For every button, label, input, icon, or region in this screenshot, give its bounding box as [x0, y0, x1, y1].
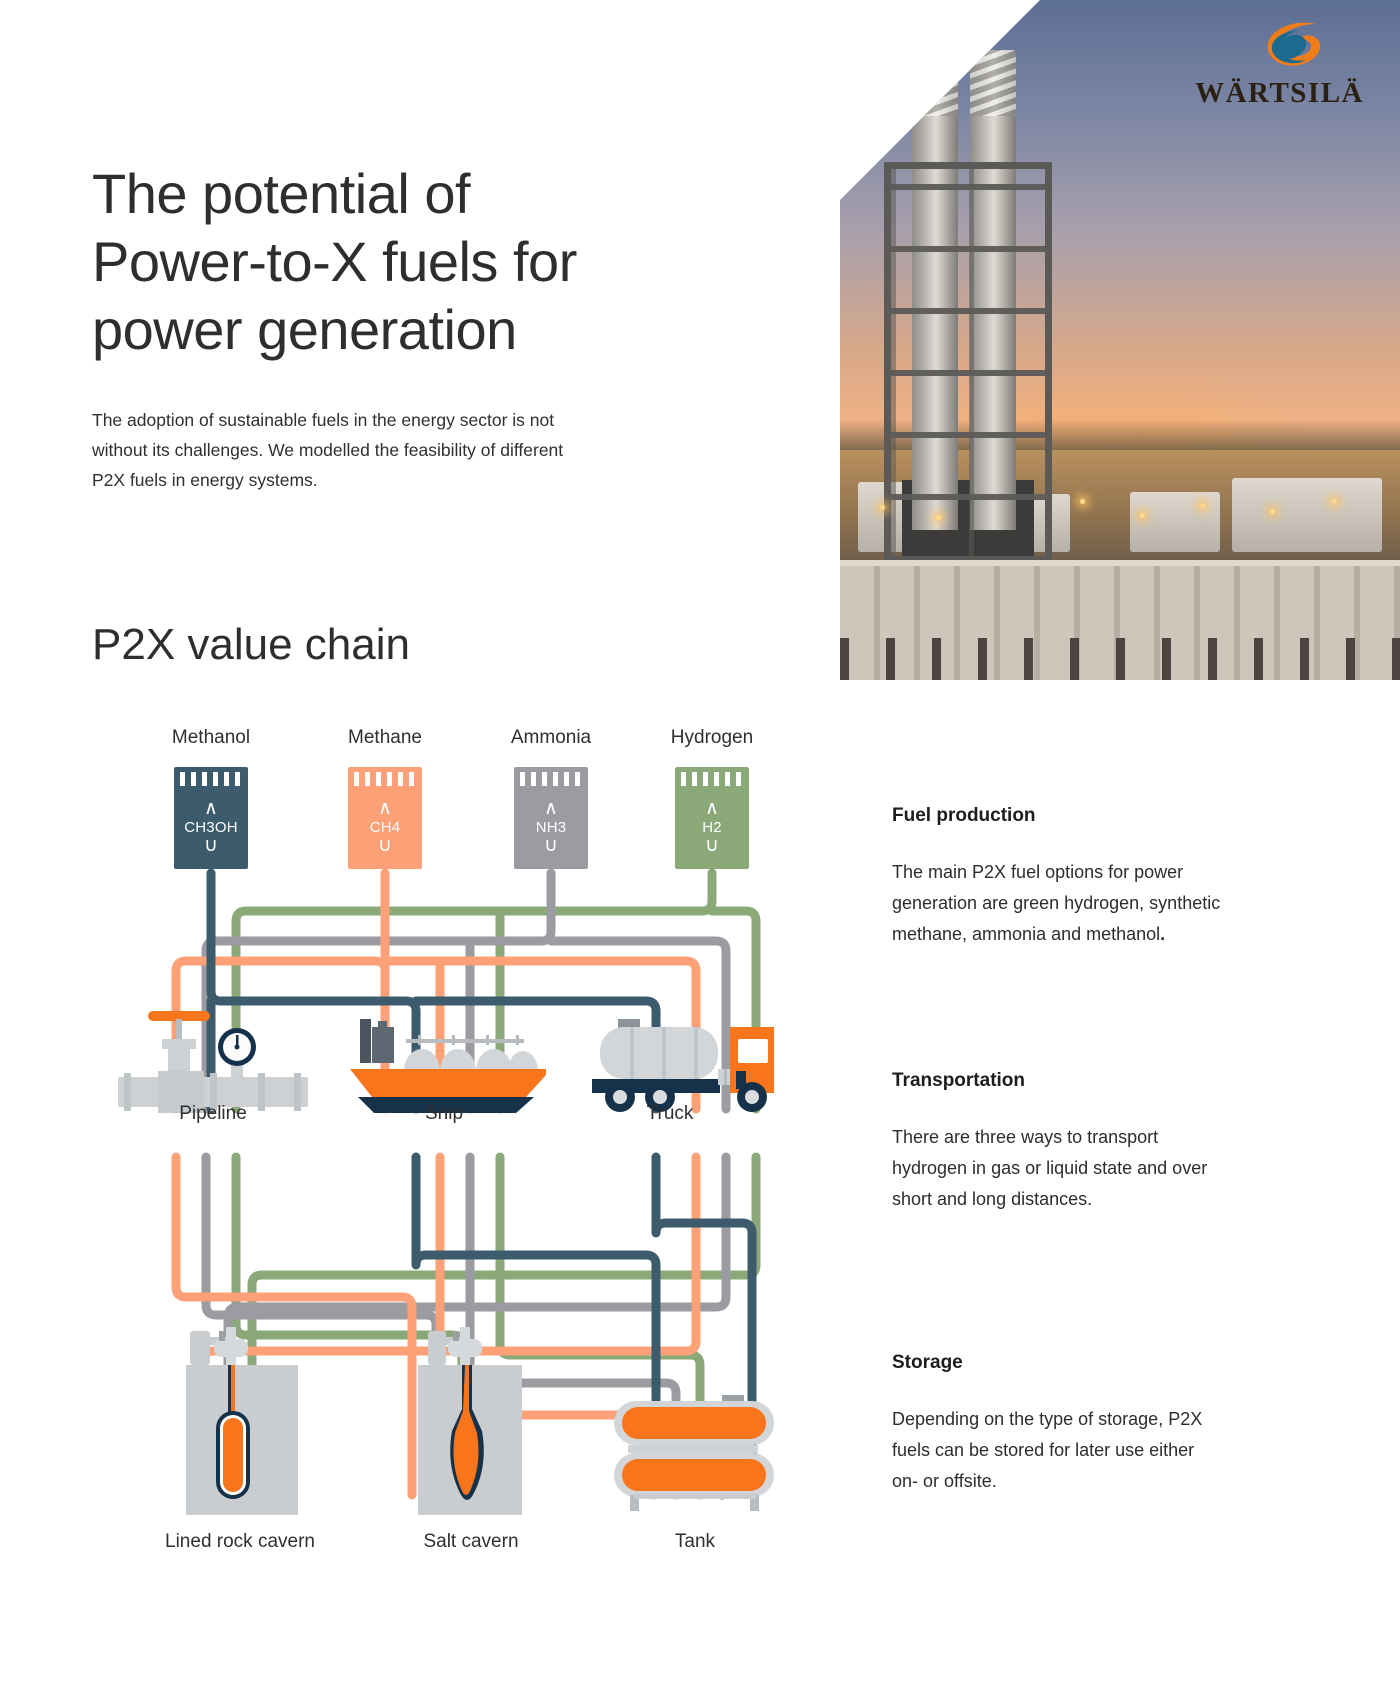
- tank-vents-icon: [681, 772, 743, 786]
- droplet-bottom-icon: ∪: [675, 841, 749, 853]
- droplet-icon: ∧: [174, 801, 248, 816]
- fuel-tank-methanol[interactable]: ∧ CH3OH ∪: [174, 767, 248, 869]
- p2x-value-chain-diagram: Methanol Methane Ammonia Hydrogen ∧ CH3O…: [0, 705, 880, 1699]
- storage-label-lined-rock-cavern: Lined rock cavern: [140, 1531, 340, 1553]
- salt-cavern-icon[interactable]: [410, 1325, 530, 1515]
- tank-vents-icon: [354, 772, 416, 786]
- fuel-formula: NH3: [514, 819, 588, 836]
- panel-transportation: Transportation There are three ways to t…: [892, 1070, 1222, 1215]
- fuel-label-ammonia: Ammonia: [471, 727, 631, 749]
- fuel-tank-methane[interactable]: ∧ CH4 ∪: [348, 767, 422, 869]
- panel-body: Depending on the type of storage, P2X fu…: [892, 1404, 1222, 1497]
- fuel-formula: CH4: [348, 819, 422, 836]
- droplet-bottom-icon: ∪: [514, 841, 588, 853]
- panel-heading: Fuel production: [892, 805, 1222, 827]
- droplet-bottom-icon: ∪: [174, 841, 248, 853]
- droplet-icon: ∧: [348, 801, 422, 816]
- panel-storage: Storage Depending on the type of storage…: [892, 1352, 1222, 1497]
- infographic-page: WÄRTSILÄ The potential of Power-to-X fue…: [0, 0, 1400, 1699]
- droplet-icon: ∧: [514, 801, 588, 816]
- tanker-truck-icon[interactable]: [578, 1005, 776, 1117]
- page-lede: The adoption of sustainable fuels in the…: [92, 405, 584, 495]
- fuel-label-hydrogen: Hydrogen: [632, 727, 792, 749]
- fuel-formula: CH3OH: [174, 819, 248, 836]
- brand-name: WÄRTSILÄ: [1184, 77, 1364, 110]
- transport-label-ship: Ship: [344, 1103, 544, 1125]
- panel-fuel-production: Fuel production The main P2X fuel option…: [892, 805, 1222, 950]
- panel-body: The main P2X fuel options for power gene…: [892, 857, 1222, 950]
- transport-label-pipeline: Pipeline: [113, 1103, 313, 1125]
- tank-vents-icon: [180, 772, 242, 786]
- page-title: The potential of Power-to-X fuels for po…: [92, 160, 652, 363]
- panel-heading: Storage: [892, 1352, 1222, 1374]
- panel-heading: Transportation: [892, 1070, 1222, 1092]
- droplet-bottom-icon: ∪: [348, 841, 422, 853]
- fuel-tank-ammonia[interactable]: ∧ NH3 ∪: [514, 767, 588, 869]
- section-title: P2X value chain: [92, 620, 410, 670]
- pressure-tank-icon[interactable]: [610, 1389, 780, 1515]
- lined-rock-cavern-icon[interactable]: [176, 1325, 306, 1515]
- panel-body: There are three ways to transport hydrog…: [892, 1122, 1222, 1215]
- fuel-label-methane: Methane: [305, 727, 465, 749]
- fuel-label-methanol: Methanol: [131, 727, 291, 749]
- fuel-formula: H2: [675, 819, 749, 836]
- wartsila-swoosh-icon: [1258, 20, 1338, 76]
- storage-label-tank: Tank: [595, 1531, 795, 1553]
- brand-logo: WÄRTSILÄ: [1184, 20, 1364, 112]
- fuel-tank-hydrogen[interactable]: ∧ H2 ∪: [675, 767, 749, 869]
- storage-label-salt-cavern: Salt cavern: [371, 1531, 571, 1553]
- tank-vents-icon: [520, 772, 582, 786]
- droplet-icon: ∧: [675, 801, 749, 816]
- transport-label-truck: Truck: [570, 1103, 770, 1125]
- pipeline-valve-icon[interactable]: [118, 1007, 308, 1117]
